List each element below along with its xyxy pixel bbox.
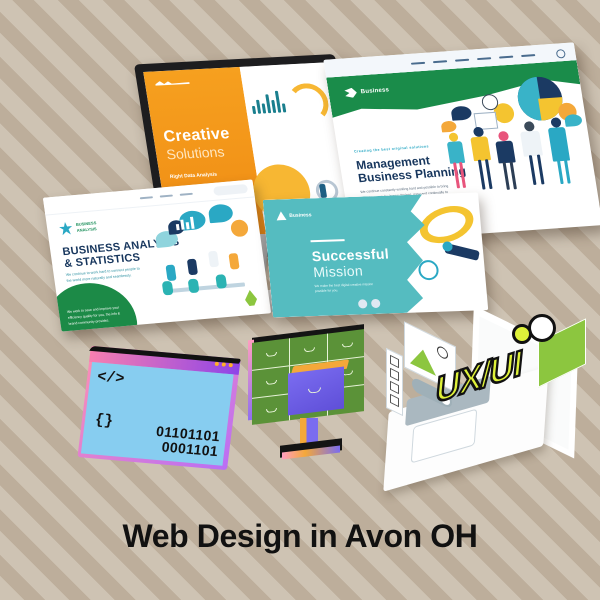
mountain-icon	[410, 343, 436, 376]
card-successful-mission[interactable]: Business Successful Mission We make the …	[263, 192, 488, 317]
toolbar-panel[interactable]	[386, 348, 403, 416]
blob-text: We work to save and improve your efficie…	[67, 304, 123, 327]
gear-icon	[226, 216, 252, 241]
search-field[interactable]	[213, 184, 248, 196]
chair-icon	[215, 274, 227, 289]
poster-canvas: Creative Solutions Right Data Analysis	[0, 0, 600, 600]
card-title-line1: Successful	[311, 246, 389, 265]
sun-icon	[437, 344, 448, 360]
code-tag-icon: </>	[96, 369, 125, 388]
plant-icon	[244, 289, 258, 306]
meeting-illustration	[141, 200, 266, 321]
person-figure	[165, 265, 176, 282]
person-figure	[545, 117, 576, 190]
creative-heading-line2: Solutions	[165, 143, 225, 162]
crop-tool-icon	[390, 394, 399, 407]
person-figure	[517, 121, 550, 192]
card-kicker: Creating the best original solutions	[354, 144, 429, 153]
nav-avatar-icon	[556, 49, 566, 59]
card-badges	[358, 299, 381, 309]
person-figure	[187, 259, 198, 276]
card-logo-text: BUSINESSANALYSIS	[76, 220, 98, 234]
green-grid-monitor[interactable]	[248, 336, 374, 468]
binary-text: 01101101 0001101	[153, 424, 220, 459]
text-tool-icon	[390, 381, 399, 394]
card-business-analysis-statistics[interactable]: BUSINESSANALYSIS BUSINESS ANALYSIS & STA…	[43, 179, 271, 331]
shape-tool-icon	[390, 368, 399, 381]
creative-subheading: Right Data Analysis	[170, 170, 241, 181]
card-logo: Business	[276, 210, 312, 220]
chair-icon	[162, 281, 174, 296]
card-logo-icon	[58, 221, 73, 235]
triangle-logo-icon	[276, 211, 287, 220]
brand-logo-icon	[155, 80, 190, 89]
code-brace-icon: {}	[94, 412, 114, 430]
bar-chart-illustration	[249, 91, 286, 114]
card-title-line2: Mission	[313, 262, 364, 280]
meeting-table	[167, 282, 245, 293]
gear-icon	[512, 324, 532, 344]
arrow-logo-icon	[344, 88, 358, 99]
card-logo-text: Business	[360, 87, 389, 95]
orange-arc-shape	[285, 82, 331, 124]
code-browser-window[interactable]: </> {} 01101101 0001101	[77, 346, 240, 470]
card-logo-text: Business	[289, 212, 312, 219]
gear-icon	[528, 314, 556, 342]
person-figure	[444, 132, 472, 194]
chair-icon	[188, 279, 200, 294]
page-title: Web Design in Avon OH	[0, 518, 600, 555]
code-canvas: </> {} 01101101 0001101	[81, 362, 234, 466]
uxui-laptop-scene[interactable]: UX/UI	[380, 312, 580, 482]
person-figure	[208, 251, 219, 268]
person-figure	[228, 253, 239, 270]
pencil-tool-icon	[390, 355, 399, 368]
